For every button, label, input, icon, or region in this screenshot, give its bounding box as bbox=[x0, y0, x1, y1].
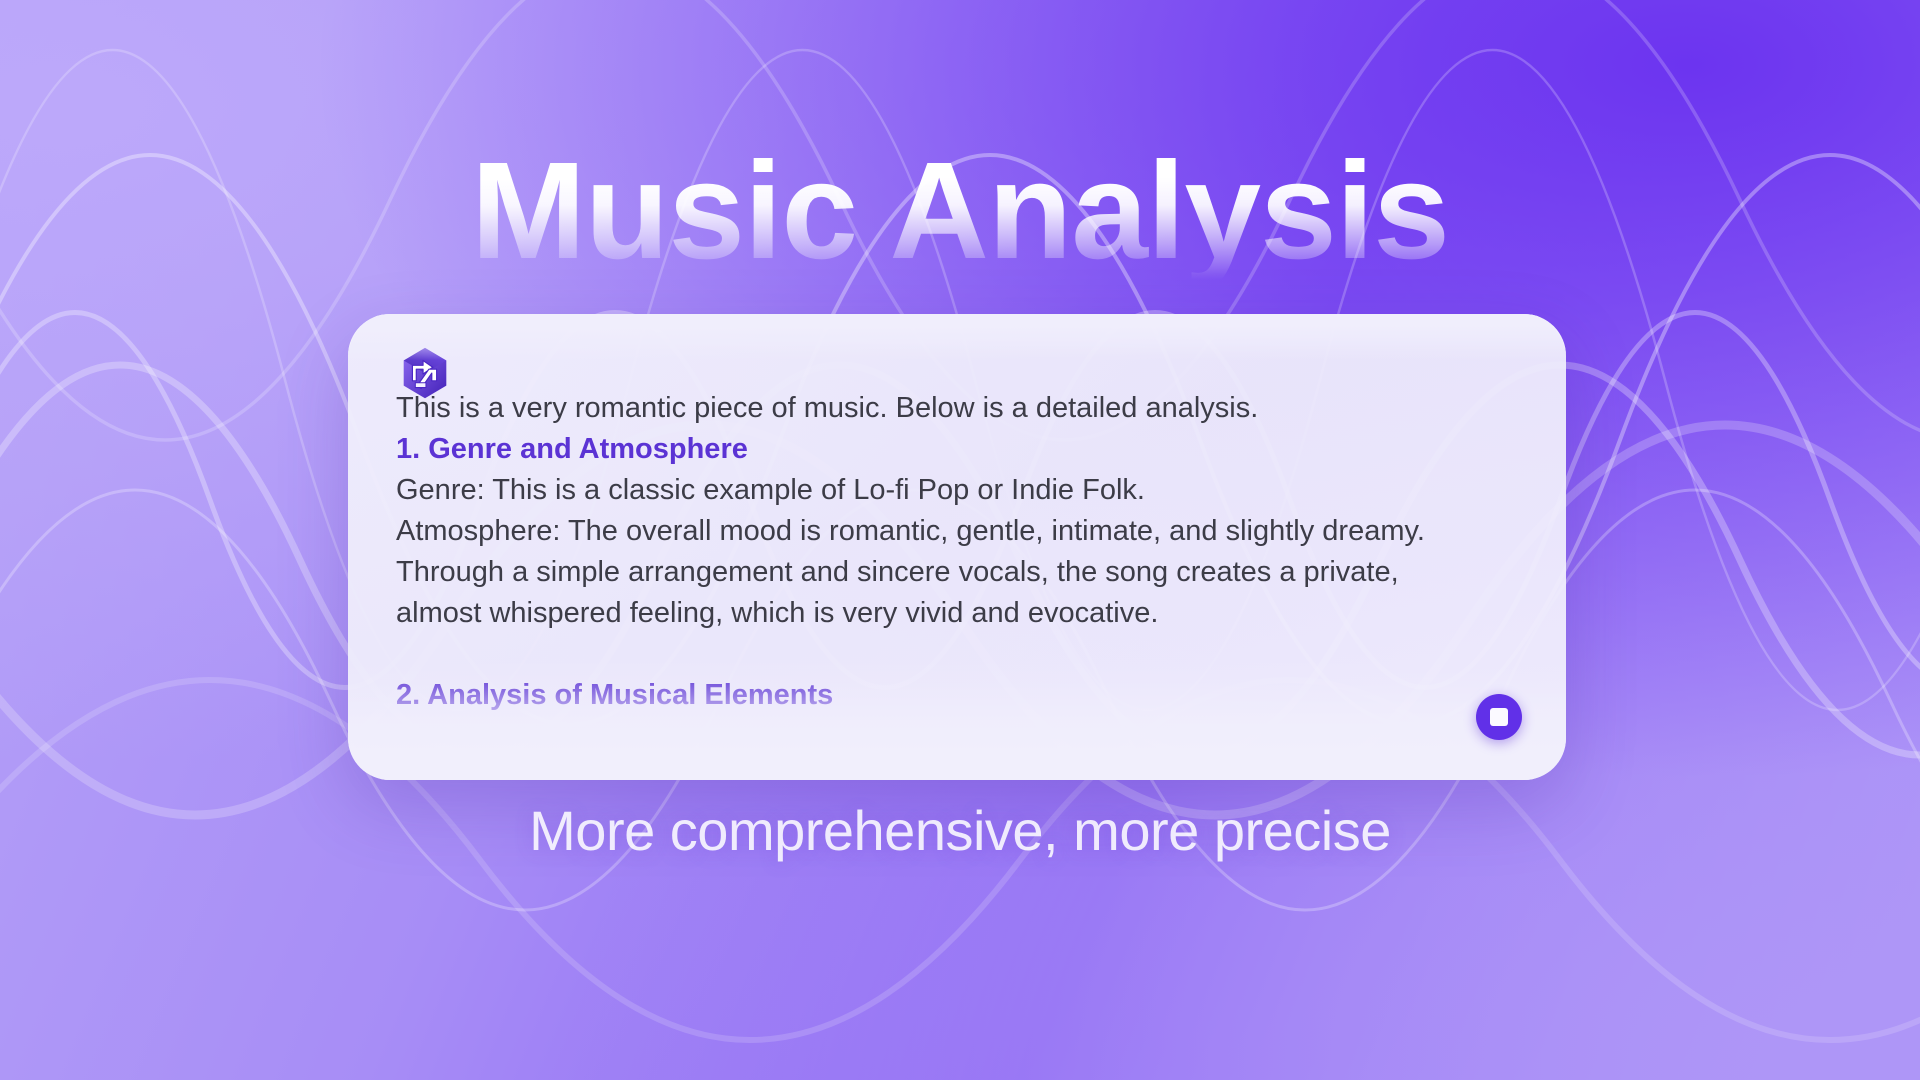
analysis-line: Atmosphere: The overall mood is romantic… bbox=[396, 511, 1520, 552]
page-subtitle: More comprehensive, more precise bbox=[0, 803, 1920, 859]
analysis-spacer bbox=[396, 634, 1520, 675]
analysis-heading: 1. Genre and Atmosphere bbox=[396, 429, 1520, 470]
text-fade-top-mask bbox=[348, 314, 1566, 360]
analysis-lines: This is a very romantic piece of music. … bbox=[396, 388, 1520, 716]
card-inner: This is a very romantic piece of music. … bbox=[348, 314, 1566, 780]
analysis-text-scroll[interactable]: This is a very romantic piece of music. … bbox=[396, 388, 1520, 754]
analysis-line: Through a simple arrangement and sincere… bbox=[396, 552, 1520, 593]
stop-square-icon bbox=[1490, 708, 1508, 726]
stop-button[interactable] bbox=[1476, 694, 1522, 740]
analysis-line: almost whispered feeling, which is very … bbox=[396, 593, 1520, 634]
analysis-line: Genre: This is a classic example of Lo-f… bbox=[396, 470, 1520, 511]
analysis-result-card: This is a very romantic piece of music. … bbox=[348, 314, 1566, 780]
analysis-heading: 2. Analysis of Musical Elements bbox=[396, 675, 1520, 716]
analysis-line: This is a very romantic piece of music. … bbox=[396, 388, 1520, 429]
page-title: Music Analysis bbox=[0, 142, 1920, 280]
app-root: Music Analysis bbox=[0, 0, 1920, 1080]
